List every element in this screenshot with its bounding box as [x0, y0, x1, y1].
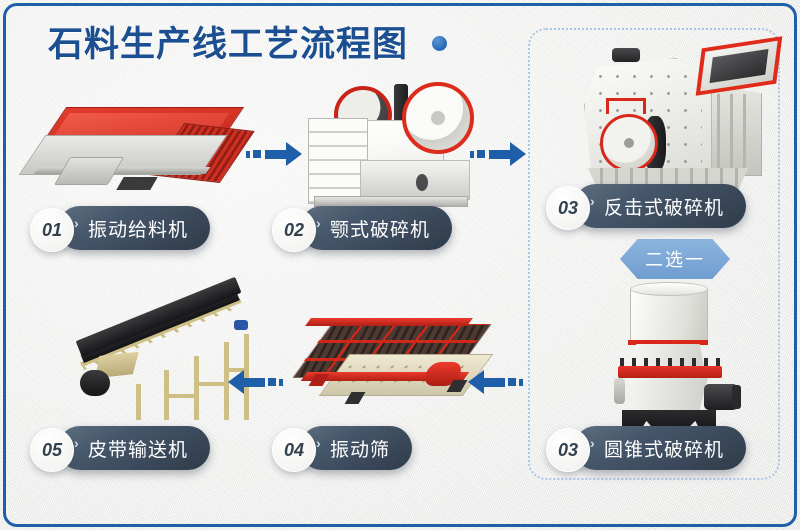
step-bubble-02[interactable]: › 颚式破碎机 [300, 206, 452, 250]
chevron-right-icon: › [74, 435, 80, 451]
jaw-crusher-image [308, 78, 478, 206]
flowchart-canvas: 石料生产线工艺流程图 [0, 0, 800, 530]
step-bubble-03-impact[interactable]: › 反击式破碎机 [574, 184, 746, 228]
arrow-feeder-to-jaw [246, 142, 302, 166]
step-number-01: 01 [30, 208, 74, 252]
step-label-text-02: 颚式破碎机 [330, 215, 430, 242]
step-label-text-04: 振动筛 [330, 435, 390, 462]
step-label-text-03-cone: 圆锥式破碎机 [604, 435, 724, 462]
vibrating-screen-image [298, 318, 488, 428]
chevron-right-icon: › [316, 215, 322, 231]
step-label-text-05: 皮带输送机 [88, 435, 188, 462]
chevron-right-icon: › [74, 215, 80, 231]
chevron-right-icon: › [316, 435, 322, 451]
chevron-right-icon: › [590, 435, 596, 451]
choose-one-badge: 二选一 [620, 239, 730, 279]
step-number-03-cone: 03 [546, 428, 590, 472]
belt-conveyor-image [78, 310, 258, 420]
vibrating-feeder-image [28, 105, 246, 200]
step-bubble-01[interactable]: › 振动给料机 [58, 206, 210, 250]
cone-crusher-image [600, 286, 760, 436]
step-label-text-03-impact: 反击式破碎机 [604, 193, 724, 220]
arrow-cone-to-screen [468, 370, 523, 394]
step-bubble-05[interactable]: › 皮带输送机 [58, 426, 210, 470]
step-bubble-04[interactable]: › 振动筛 [300, 426, 412, 470]
impact-crusher-image [578, 42, 783, 192]
arrow-jaw-to-impact [470, 142, 526, 166]
blue-dot-icon [432, 36, 447, 51]
step-number-02: 02 [272, 208, 316, 252]
step-label-text-01: 振动给料机 [88, 215, 188, 242]
step-number-05: 05 [30, 428, 74, 472]
chevron-right-icon: › [590, 193, 596, 209]
step-number-03-impact: 03 [546, 186, 590, 230]
page-title: 石料生产线工艺流程图 [48, 16, 408, 67]
arrow-screen-to-belt [228, 370, 283, 394]
step-bubble-03-cone[interactable]: › 圆锥式破碎机 [574, 426, 746, 470]
step-number-04: 04 [272, 428, 316, 472]
